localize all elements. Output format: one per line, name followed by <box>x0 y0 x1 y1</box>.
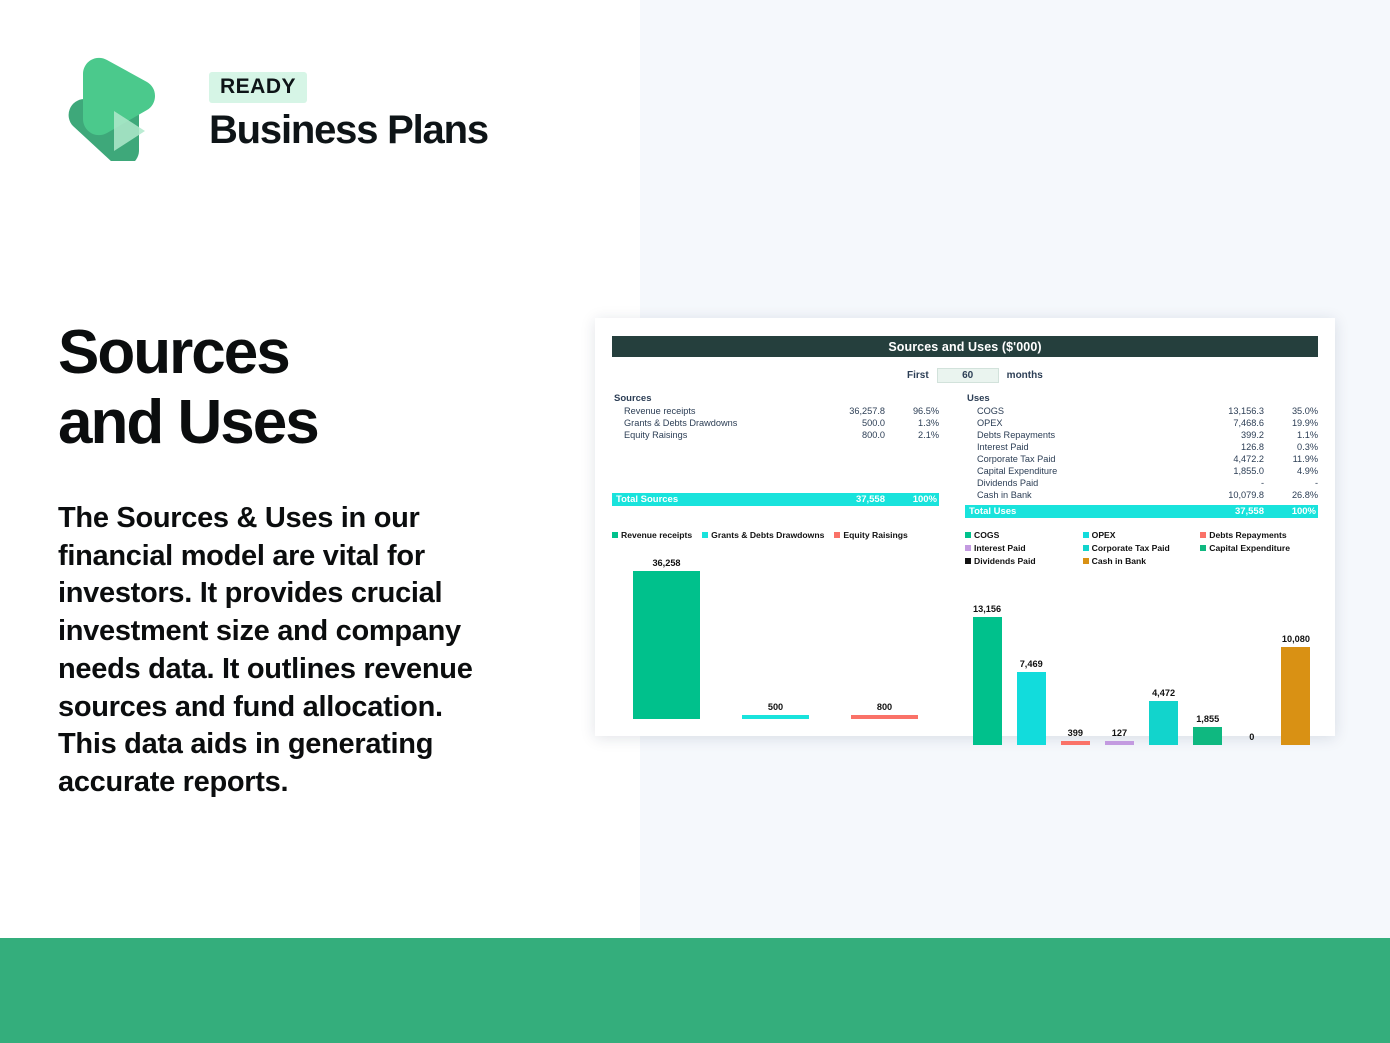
legend-label: Revenue receipts <box>621 530 692 540</box>
bar-slot: 500 <box>721 549 830 719</box>
uses-legend: COGSOPEXDebts RepaymentsInterest PaidCor… <box>965 530 1318 569</box>
bar-slot: 399 <box>1053 575 1097 745</box>
row-label: COGS <box>965 406 1192 416</box>
row-percent: 96.5% <box>885 406 939 416</box>
bar-value-label: 7,469 <box>1020 659 1043 669</box>
row-value: 4,472.2 <box>1192 454 1264 464</box>
bar-slot: 4,472 <box>1142 575 1186 745</box>
sources-legend: Revenue receiptsGrants & Debts Drawdowns… <box>612 530 939 543</box>
row-percent: 0.3% <box>1264 442 1318 452</box>
row-label: Interest Paid <box>965 442 1192 452</box>
months-input[interactable]: 60 <box>937 368 999 383</box>
legend-label: COGS <box>974 530 999 540</box>
legend-item: Revenue receipts <box>612 530 692 540</box>
legend-item: Capital Expenditure <box>1200 543 1318 553</box>
left-content: Sources and Uses The Sources & Uses in o… <box>58 318 558 802</box>
report-card: Sources and Uses ($'000) First 60 months… <box>595 318 1335 736</box>
table-row: Cash in Bank 10,079.8 26.8% <box>965 489 1318 501</box>
row-percent: 19.9% <box>1264 418 1318 428</box>
table-row: Debts Repayments 399.2 1.1% <box>965 429 1318 441</box>
row-value: 7,468.6 <box>1192 418 1264 428</box>
legend-item: Corporate Tax Paid <box>1083 543 1201 553</box>
row-percent: 1.3% <box>885 418 939 428</box>
total-label: Total Uses <box>965 506 1192 517</box>
brand-wordmark: READY Business Plans <box>209 72 488 153</box>
sheet-title: Sources and Uses ($'000) <box>612 336 1318 357</box>
bar-slot: 7,469 <box>1009 575 1053 745</box>
table-row: Corporate Tax Paid 4,472.2 11.9% <box>965 453 1318 465</box>
table-row: COGS 13,156.3 35.0% <box>965 405 1318 417</box>
brand-name: Business Plans <box>209 108 488 153</box>
legend-label: Capital Expenditure <box>1209 543 1290 553</box>
bar-slot: 13,156 <box>965 575 1009 745</box>
table-row: Equity Raisings 800.0 2.1% <box>612 429 939 441</box>
bar-value-label: 36,258 <box>652 558 680 568</box>
row-label: Capital Expenditure <box>965 466 1192 476</box>
bar-value-label: 800 <box>877 702 892 712</box>
row-percent: 2.1% <box>885 430 939 440</box>
uses-chart: COGSOPEXDebts RepaymentsInterest PaidCor… <box>965 530 1318 745</box>
legend-swatch-icon <box>1200 532 1206 538</box>
legend-swatch-icon <box>965 532 971 538</box>
uses-table: Uses COGS 13,156.3 35.0% OPEX 7,468.6 19… <box>965 393 1318 518</box>
slide-root: READY Business Plans Sources and Uses Th… <box>0 0 1390 1043</box>
play-triangle-icon <box>57 56 161 161</box>
sources-heading: Sources <box>612 393 939 404</box>
bar-rect <box>633 571 701 719</box>
period-suffix-label: months <box>1007 370 1043 381</box>
legend-label: Debts Repayments <box>1209 530 1286 540</box>
bar-slot: 127 <box>1097 575 1141 745</box>
period-control: First 60 months <box>612 365 1318 385</box>
legend-label: OPEX <box>1092 530 1116 540</box>
legend-item: Grants & Debts Drawdowns <box>702 530 824 540</box>
total-value: 37,558 <box>813 494 885 505</box>
row-percent: 35.0% <box>1264 406 1318 416</box>
sources-table: Sources Revenue receipts 36,257.8 96.5% … <box>612 393 965 518</box>
row-value: 800.0 <box>813 430 885 440</box>
row-label: Corporate Tax Paid <box>965 454 1192 464</box>
legend-item: OPEX <box>1083 530 1201 540</box>
table-row: Grants & Debts Drawdowns 500.0 1.3% <box>612 417 939 429</box>
row-value: 1,855.0 <box>1192 466 1264 476</box>
legend-label: Corporate Tax Paid <box>1092 543 1170 553</box>
bar-rect <box>1105 741 1134 745</box>
legend-label: Interest Paid <box>974 543 1026 553</box>
row-label: Debts Repayments <box>965 430 1192 440</box>
bar-rect <box>973 617 1002 745</box>
legend-swatch-icon <box>1083 532 1089 538</box>
legend-swatch-icon <box>965 558 971 564</box>
bar-slot: 800 <box>830 549 939 719</box>
sources-plot: 36,258500800 <box>612 549 939 719</box>
bar-value-label: 4,472 <box>1152 688 1175 698</box>
legend-swatch-icon <box>1083 558 1089 564</box>
row-percent: 26.8% <box>1264 490 1318 500</box>
total-value: 37,558 <box>1192 506 1264 517</box>
bar-value-label: 399 <box>1068 728 1083 738</box>
ready-badge: READY <box>209 72 307 103</box>
legend-swatch-icon <box>612 532 618 538</box>
legend-swatch-icon <box>702 532 708 538</box>
row-value: 126.8 <box>1192 442 1264 452</box>
total-sources-row: Total Sources 37,558 100% <box>612 493 939 506</box>
total-label: Total Sources <box>612 494 813 505</box>
row-label: Grants & Debts Drawdowns <box>612 418 813 428</box>
table-row: OPEX 7,468.6 19.9% <box>965 417 1318 429</box>
row-label: OPEX <box>965 418 1192 428</box>
row-value: 36,257.8 <box>813 406 885 416</box>
row-label: Revenue receipts <box>612 406 813 416</box>
bar-rect <box>1061 741 1090 745</box>
legend-label: Grants & Debts Drawdowns <box>711 530 824 540</box>
brand-logo: READY Business Plans <box>57 56 437 161</box>
bar-rect <box>1193 727 1222 745</box>
total-uses-row: Total Uses 37,558 100% <box>965 505 1318 518</box>
row-value: 500.0 <box>813 418 885 428</box>
row-percent: 11.9% <box>1264 454 1318 464</box>
legend-item: Dividends Paid <box>965 556 1083 566</box>
row-percent: 1.1% <box>1264 430 1318 440</box>
bar-rect <box>1281 647 1310 745</box>
sources-chart: Revenue receiptsGrants & Debts Drawdowns… <box>612 530 965 745</box>
legend-item: COGS <box>965 530 1083 540</box>
table-row: Dividends Paid - - <box>965 477 1318 489</box>
table-row: Interest Paid 126.8 0.3% <box>965 441 1318 453</box>
total-percent: 100% <box>1264 506 1318 517</box>
legend-swatch-icon <box>965 545 971 551</box>
row-label: Equity Raisings <box>612 430 813 440</box>
bar-slot: 10,080 <box>1274 575 1318 745</box>
row-label: Dividends Paid <box>965 478 1192 488</box>
legend-label: Equity Raisings <box>843 530 907 540</box>
bar-rect <box>851 715 919 719</box>
period-prefix-label: First <box>907 370 929 381</box>
tables-row: Sources Revenue receipts 36,257.8 96.5% … <box>612 393 1318 518</box>
bar-value-label: 127 <box>1112 728 1127 738</box>
page-title: Sources and Uses <box>58 318 558 458</box>
total-percent: 100% <box>885 494 939 505</box>
charts-row: Revenue receiptsGrants & Debts Drawdowns… <box>612 530 1318 745</box>
row-value: - <box>1192 478 1264 488</box>
legend-swatch-icon <box>1083 545 1089 551</box>
legend-item: Interest Paid <box>965 543 1083 553</box>
row-value: 399.2 <box>1192 430 1264 440</box>
legend-item: Debts Repayments <box>1200 530 1318 540</box>
legend-swatch-icon <box>1200 545 1206 551</box>
table-spacer <box>612 441 939 489</box>
page-description: The Sources & Uses in our financial mode… <box>58 500 498 802</box>
bar-value-label: 0 <box>1249 732 1254 742</box>
bar-slot: 36,258 <box>612 549 721 719</box>
uses-plot: 13,1567,4693991274,4721,855010,080 <box>965 575 1318 745</box>
bar-rect <box>1149 701 1178 745</box>
row-value: 13,156.3 <box>1192 406 1264 416</box>
table-row: Revenue receipts 36,257.8 96.5% <box>612 405 939 417</box>
legend-item: Cash in Bank <box>1083 556 1201 566</box>
bar-slot: 0 <box>1230 575 1274 745</box>
row-label: Cash in Bank <box>965 490 1192 500</box>
legend-label: Dividends Paid <box>974 556 1036 566</box>
bar-slot: 1,855 <box>1186 575 1230 745</box>
bar-value-label: 10,080 <box>1282 634 1310 644</box>
legend-swatch-icon <box>834 532 840 538</box>
bar-value-label: 13,156 <box>973 604 1001 614</box>
legend-item: Equity Raisings <box>834 530 907 540</box>
footer-band <box>0 938 1390 1043</box>
bar-rect <box>1017 672 1046 745</box>
row-value: 10,079.8 <box>1192 490 1264 500</box>
bar-value-label: 500 <box>768 702 783 712</box>
uses-heading: Uses <box>965 393 1318 404</box>
row-percent: - <box>1264 478 1318 488</box>
table-row: Capital Expenditure 1,855.0 4.9% <box>965 465 1318 477</box>
legend-label: Cash in Bank <box>1092 556 1146 566</box>
bar-value-label: 1,855 <box>1196 714 1219 724</box>
row-percent: 4.9% <box>1264 466 1318 476</box>
bar-rect <box>742 715 810 719</box>
